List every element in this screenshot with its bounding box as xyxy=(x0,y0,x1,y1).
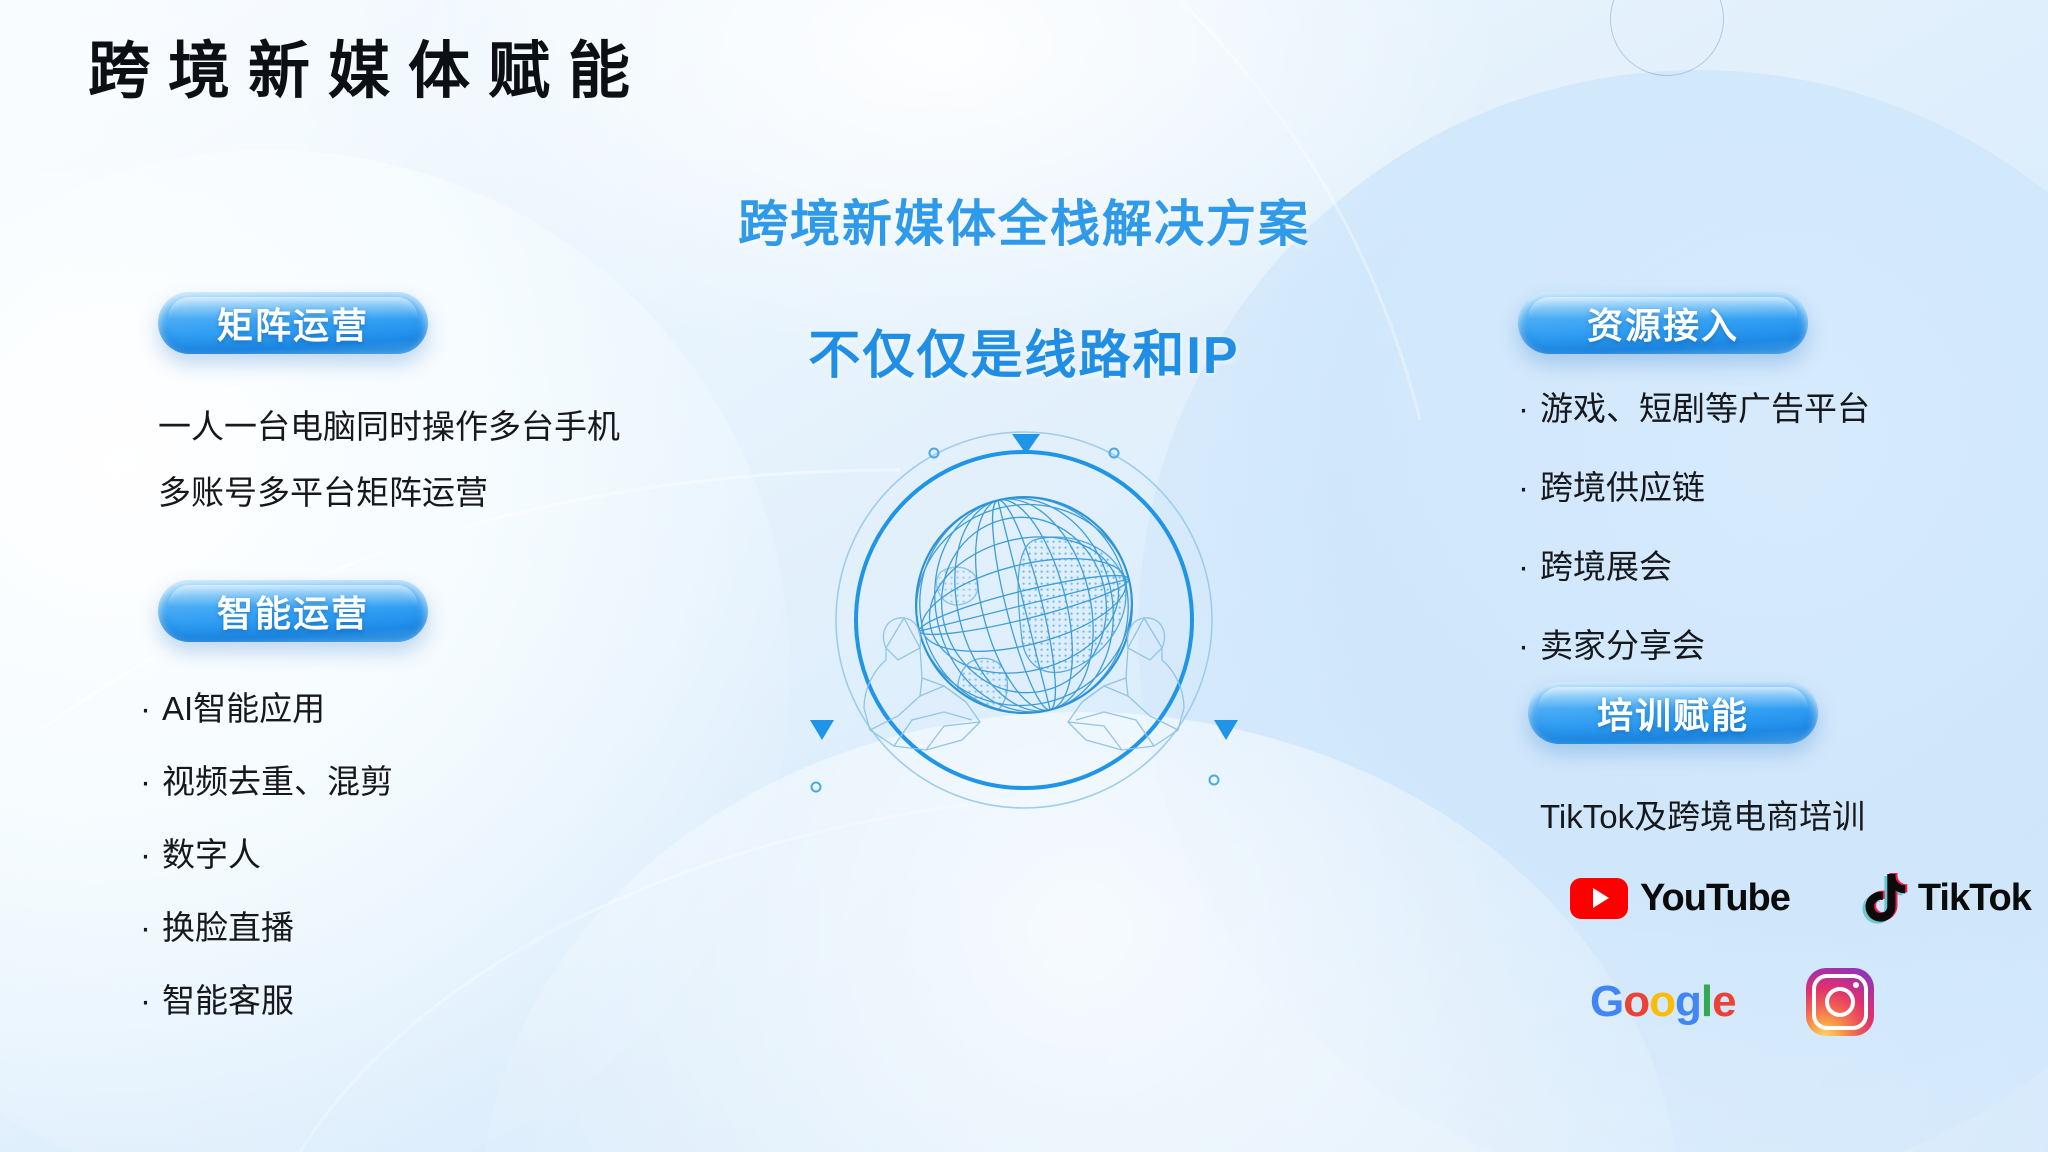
badge-training-empowerment[interactable]: 培训赋能 xyxy=(1528,682,1818,744)
logo-row-primary: YouTube TikTok xyxy=(1570,872,2031,924)
list-item-label: 换脸直播 xyxy=(162,901,294,949)
list-item-label: 跨境展会 xyxy=(1540,540,1672,588)
badge-matrix-label: 矩阵运营 xyxy=(217,297,369,349)
badge-resource-label: 资源接入 xyxy=(1587,297,1739,349)
tiktok-logo[interactable]: TikTok xyxy=(1862,872,2031,924)
list-item: · 卖家分享会 xyxy=(1518,619,1870,667)
tiktok-note-icon xyxy=(1862,872,1908,924)
list-item-label: AI智能应用 xyxy=(162,682,325,730)
bullet-dot-icon: · xyxy=(140,763,162,801)
bullet-dot-icon: · xyxy=(140,690,162,728)
badge-resource-access[interactable]: 资源接入 xyxy=(1518,292,1808,354)
bullet-dot-icon: · xyxy=(140,982,162,1020)
bullet-dot-icon: · xyxy=(1518,627,1540,665)
decorative-ring-icon xyxy=(1610,0,1724,76)
matrix-line-2: 多账号多平台矩阵运营 xyxy=(158,466,488,514)
list-item-label: 视频去重、混剪 xyxy=(162,755,393,803)
list-item-label: 数字人 xyxy=(162,828,261,876)
bullet-dot-icon: · xyxy=(1518,390,1540,428)
list-item: · 视频去重、混剪 xyxy=(140,755,393,803)
list-item: · 换脸直播 xyxy=(140,901,393,949)
bullet-dot-icon: · xyxy=(140,909,162,947)
youtube-logo-label: YouTube xyxy=(1640,877,1790,920)
list-item-label: 卖家分享会 xyxy=(1540,619,1705,667)
resource-access-list: · 游戏、短剧等广告平台 · 跨境供应链 · 跨境展会 · 卖家分享会 xyxy=(1518,382,1870,698)
globe-in-hands-icon xyxy=(794,420,1254,840)
list-item: · 数字人 xyxy=(140,828,393,876)
youtube-logo[interactable]: YouTube xyxy=(1570,877,1790,920)
instagram-logo[interactable]: Instagram xyxy=(1806,968,1874,1036)
list-item: · 跨境展会 xyxy=(1518,540,1870,588)
center-heading-secondary: 不仅仅是线路和IP xyxy=(808,313,1239,388)
badge-smart-operations[interactable]: 智能运营 xyxy=(158,580,428,642)
list-item: · AI智能应用 xyxy=(140,682,393,730)
google-logo[interactable]: Google Google xyxy=(1590,977,1736,1027)
list-item: · 智能客服 xyxy=(140,974,393,1022)
list-item-label: 智能客服 xyxy=(162,974,294,1022)
bullet-dot-icon: · xyxy=(140,836,162,874)
center-heading-primary: 跨境新媒体全栈解决方案 xyxy=(738,184,1310,256)
badge-matrix-operations[interactable]: 矩阵运营 xyxy=(158,292,428,354)
youtube-play-icon xyxy=(1570,878,1628,919)
list-item-label: 游戏、短剧等广告平台 xyxy=(1540,382,1870,430)
bullet-dot-icon: · xyxy=(1518,469,1540,507)
training-line: TikTok及跨境电商培训 xyxy=(1540,790,1865,838)
globe-illustration xyxy=(794,420,1254,840)
logo-row-secondary: Google Google Instagram xyxy=(1590,968,1874,1036)
slide-canvas: 跨境新媒体赋能 跨境新媒体全栈解决方案 不仅仅是线路和IP xyxy=(0,0,2048,1152)
page-title: 跨境新媒体赋能 xyxy=(88,38,648,106)
bullet-dot-icon: · xyxy=(1518,548,1540,586)
badge-smart-label: 智能运营 xyxy=(217,585,369,637)
matrix-line-1: 一人一台电脑同时操作多台手机 xyxy=(158,400,620,448)
list-item-label: 跨境供应链 xyxy=(1540,461,1705,509)
list-item: · 跨境供应链 xyxy=(1518,461,1870,509)
badge-training-label: 培训赋能 xyxy=(1597,687,1749,739)
tiktok-logo-label: TikTok xyxy=(1918,877,2031,920)
instagram-camera-icon xyxy=(1812,974,1868,1030)
list-item: · 游戏、短剧等广告平台 xyxy=(1518,382,1870,430)
smart-operations-list: · AI智能应用 · 视频去重、混剪 · 数字人 · 换脸直播 · 智能客服 xyxy=(140,682,393,1047)
